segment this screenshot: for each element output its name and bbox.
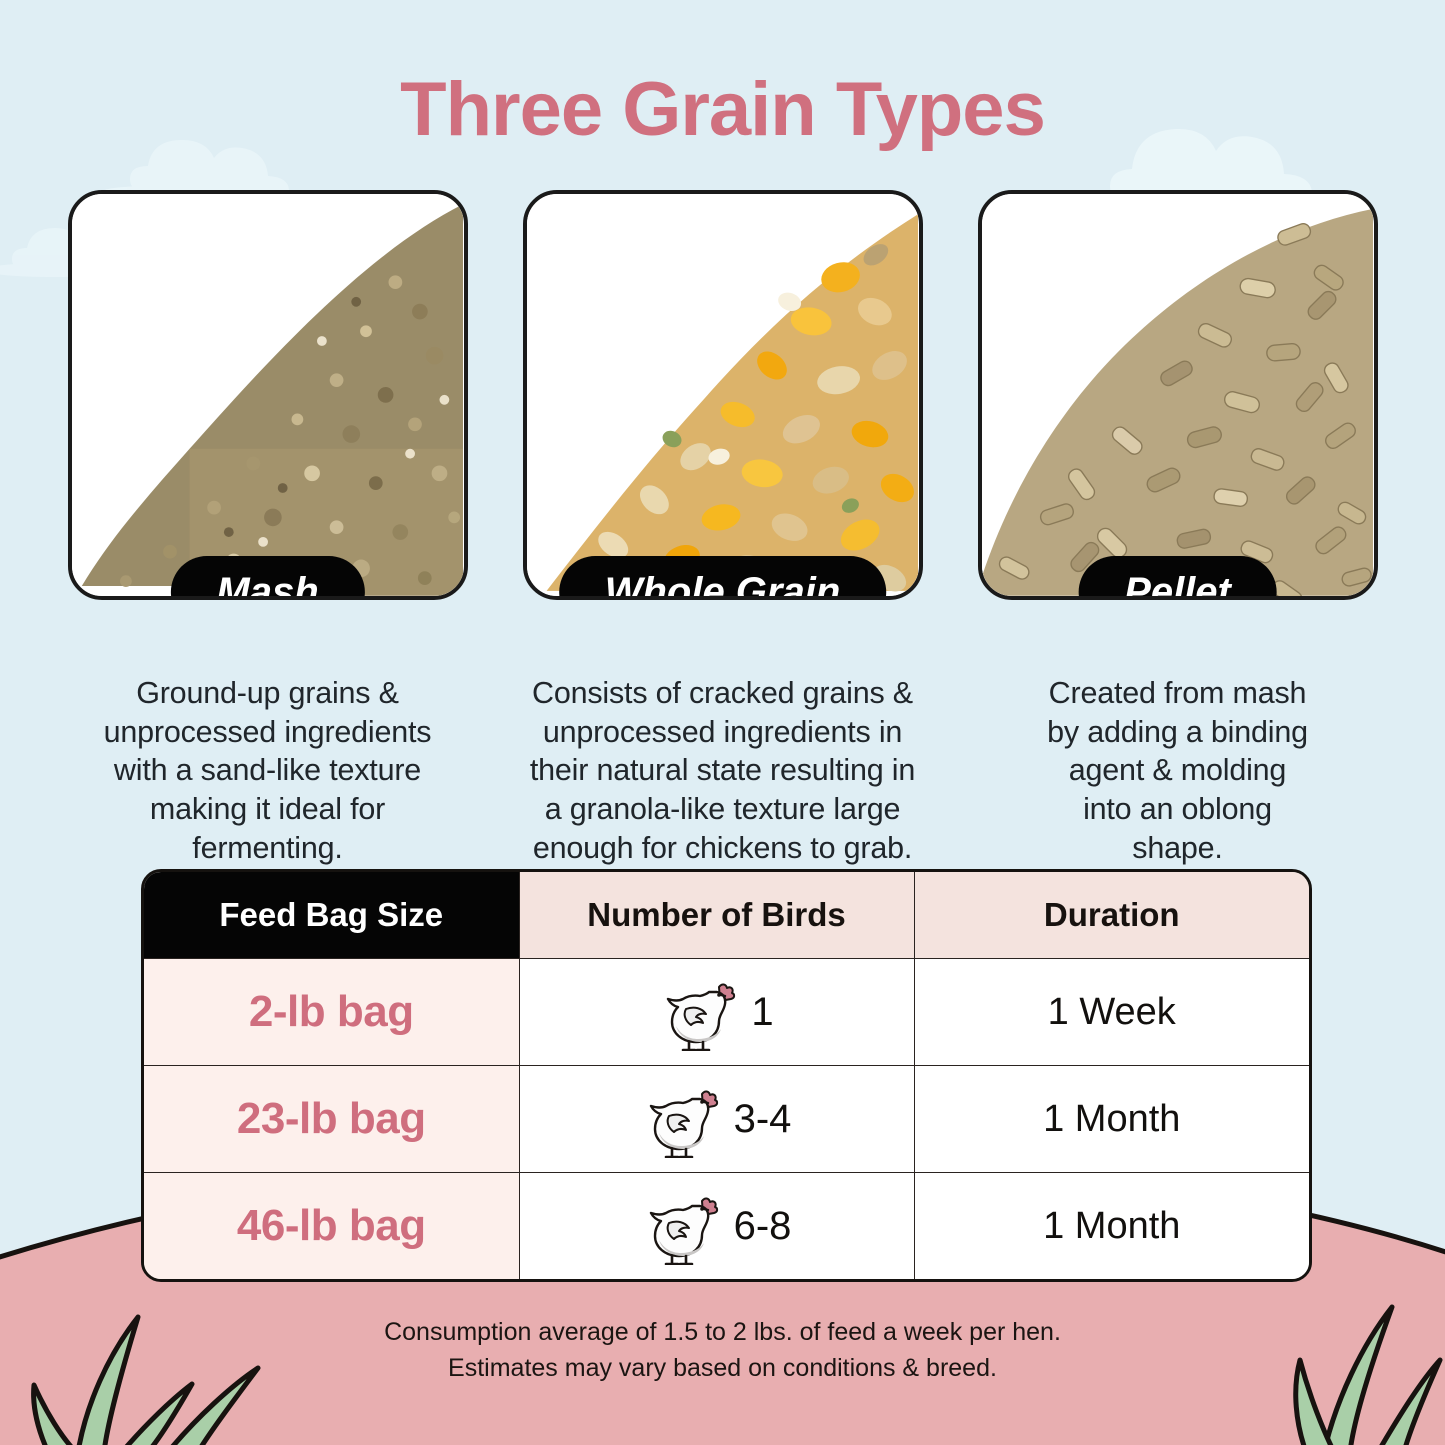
- cell-bag-size: 23-lb bag: [144, 1066, 519, 1173]
- cell-duration: 1 Month: [914, 1066, 1309, 1173]
- mash-grain-photo: [72, 194, 464, 596]
- bird-count-value: 6-8: [734, 1204, 792, 1249]
- footnote-text: Consumption average of 1.5 to 2 lbs. of …: [0, 1315, 1445, 1386]
- column-header-feed-bag-size: Feed Bag Size: [144, 872, 519, 959]
- table-row: 23-lb bag 3-4: [144, 1066, 1309, 1173]
- card-label-whole-grain: Whole Grain: [559, 556, 887, 600]
- card-label-mash: Mash: [170, 556, 364, 600]
- card-description-pellet: Created from mash by adding a binding ag…: [1047, 674, 1308, 868]
- grain-card-mash: Mash Ground-up grains & unprocessed ingr…: [68, 190, 468, 868]
- cell-duration: 1 Week: [914, 959, 1309, 1066]
- whole-grain-photo-frame: Whole Grain: [523, 190, 923, 600]
- card-description-whole-grain: Consists of cracked grains & unprocessed…: [530, 674, 915, 868]
- cell-bag-size: 2-lb bag: [144, 959, 519, 1066]
- bird-count-value: 3-4: [734, 1097, 792, 1142]
- page-title: Three Grain Types: [0, 66, 1445, 153]
- table-row: 46-lb bag 6-8: [144, 1173, 1309, 1280]
- table-row: 2-lb bag 1: [144, 959, 1309, 1066]
- cell-bag-size: 46-lb bag: [144, 1173, 519, 1280]
- grain-card-pellet: Pellet Created from mash by adding a bin…: [978, 190, 1378, 868]
- chicken-icon: [642, 1187, 720, 1265]
- cell-bird-count: 3-4: [519, 1066, 914, 1173]
- column-header-duration: Duration: [914, 872, 1309, 959]
- grain-card-whole-grain: Whole Grain Consists of cracked grains &…: [523, 190, 923, 868]
- feed-bag-table: Feed Bag Size Number of Birds Duration 2…: [141, 869, 1312, 1282]
- table-header-row: Feed Bag Size Number of Birds Duration: [144, 872, 1309, 959]
- chicken-icon: [659, 973, 737, 1051]
- cell-bird-count: 6-8: [519, 1173, 914, 1280]
- pellet-grain-photo: [982, 194, 1374, 596]
- grain-cards-row: Mash Ground-up grains & unprocessed ingr…: [0, 190, 1445, 868]
- chicken-icon: [642, 1080, 720, 1158]
- mash-photo-frame: Mash: [68, 190, 468, 600]
- card-label-pellet: Pellet: [1078, 556, 1277, 600]
- whole-grain-photo: [527, 194, 919, 596]
- bird-count-value: 1: [751, 990, 773, 1035]
- pellet-photo-frame: Pellet: [978, 190, 1378, 600]
- column-header-number-of-birds: Number of Birds: [519, 872, 914, 959]
- card-description-mash: Ground-up grains & unprocessed ingredien…: [104, 674, 432, 868]
- cell-duration: 1 Month: [914, 1173, 1309, 1280]
- cell-bird-count: 1: [519, 959, 914, 1066]
